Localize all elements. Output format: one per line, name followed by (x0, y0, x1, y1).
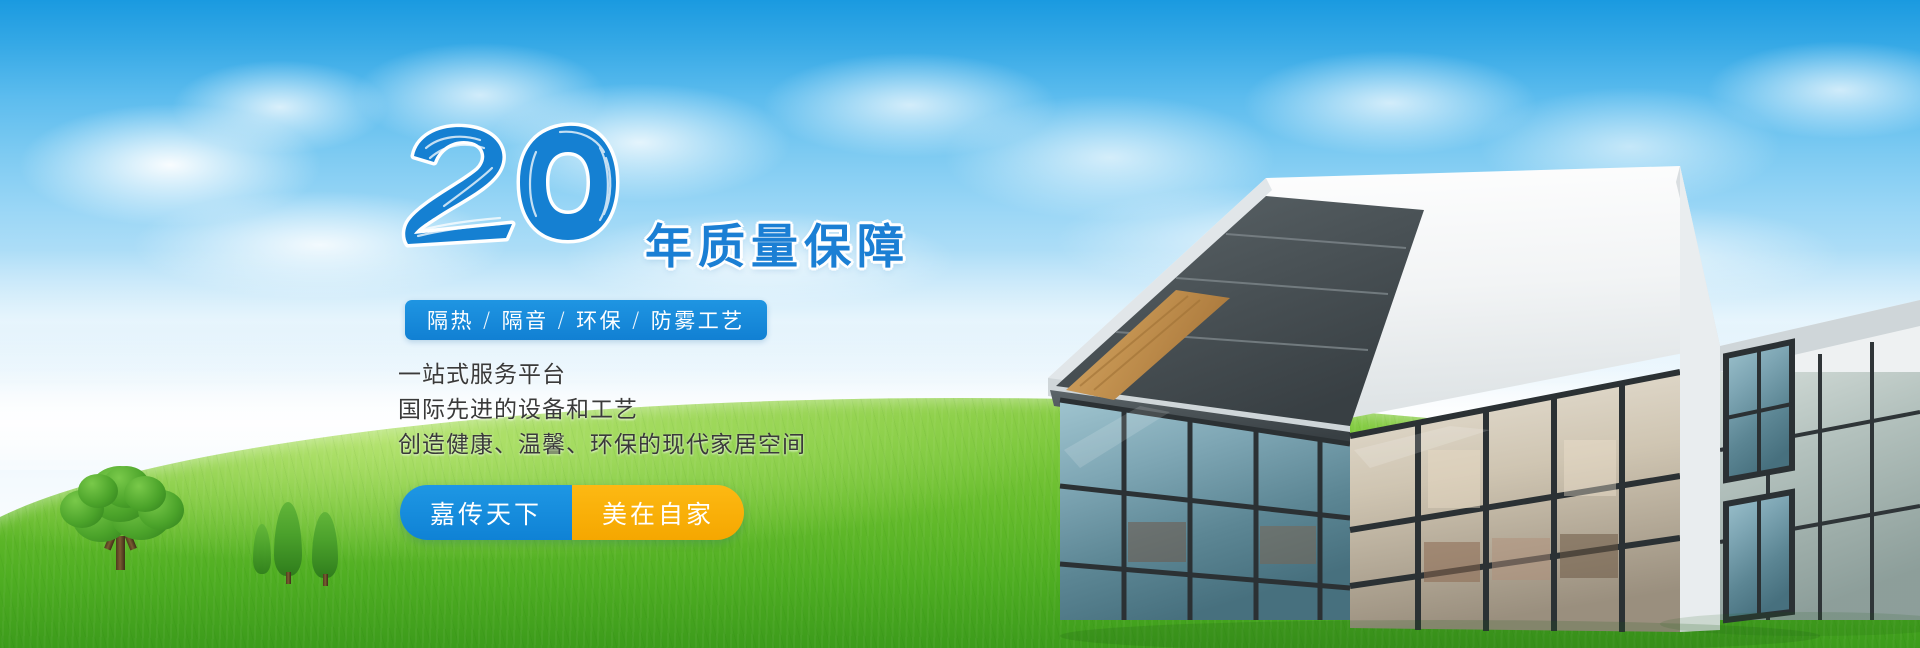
feature-separator-1: / (474, 308, 502, 332)
main-glass-facade (1350, 372, 1680, 632)
description-block: 一站式服务平台 国际先进的设备和工艺 创造健康、温馨、环保的现代家居空间 (398, 358, 806, 463)
feature-separator-2: / (549, 308, 577, 332)
feature-badge: 隔热 / 隔音 / 环保 / 防雾工艺 (405, 300, 767, 340)
feature-item-1: 隔热 (427, 305, 474, 335)
headline-suffix: 年质量保障 (645, 208, 910, 277)
description-line-2: 国际先进的设备和工艺 (398, 393, 806, 428)
feature-item-4: 防雾工艺 (651, 305, 745, 335)
banner-content: 年质量保障 隔热 / 隔音 / 环保 / 防雾工艺 一站式服务平台 国际先进的设… (0, 0, 900, 648)
feature-item-2: 隔音 (502, 305, 549, 335)
description-line-1: 一站式服务平台 (398, 358, 806, 393)
feature-item-3: 环保 (576, 305, 623, 335)
headline-number-20 (400, 118, 640, 250)
cta-group: 嘉传天下 美在自家 (400, 485, 744, 540)
cta-secondary-button[interactable]: 美在自家 (572, 485, 744, 540)
glass-sunroom-house (1020, 150, 1920, 648)
promo-banner: 年质量保障 隔热 / 隔音 / 环保 / 防雾工艺 一站式服务平台 国际先进的设… (0, 0, 1920, 648)
feature-separator-3: / (623, 308, 651, 332)
description-line-3: 创造健康、温馨、环保的现代家居空间 (398, 428, 806, 463)
cta-primary-button[interactable]: 嘉传天下 (400, 485, 572, 540)
right-wall-block (1680, 166, 1920, 632)
